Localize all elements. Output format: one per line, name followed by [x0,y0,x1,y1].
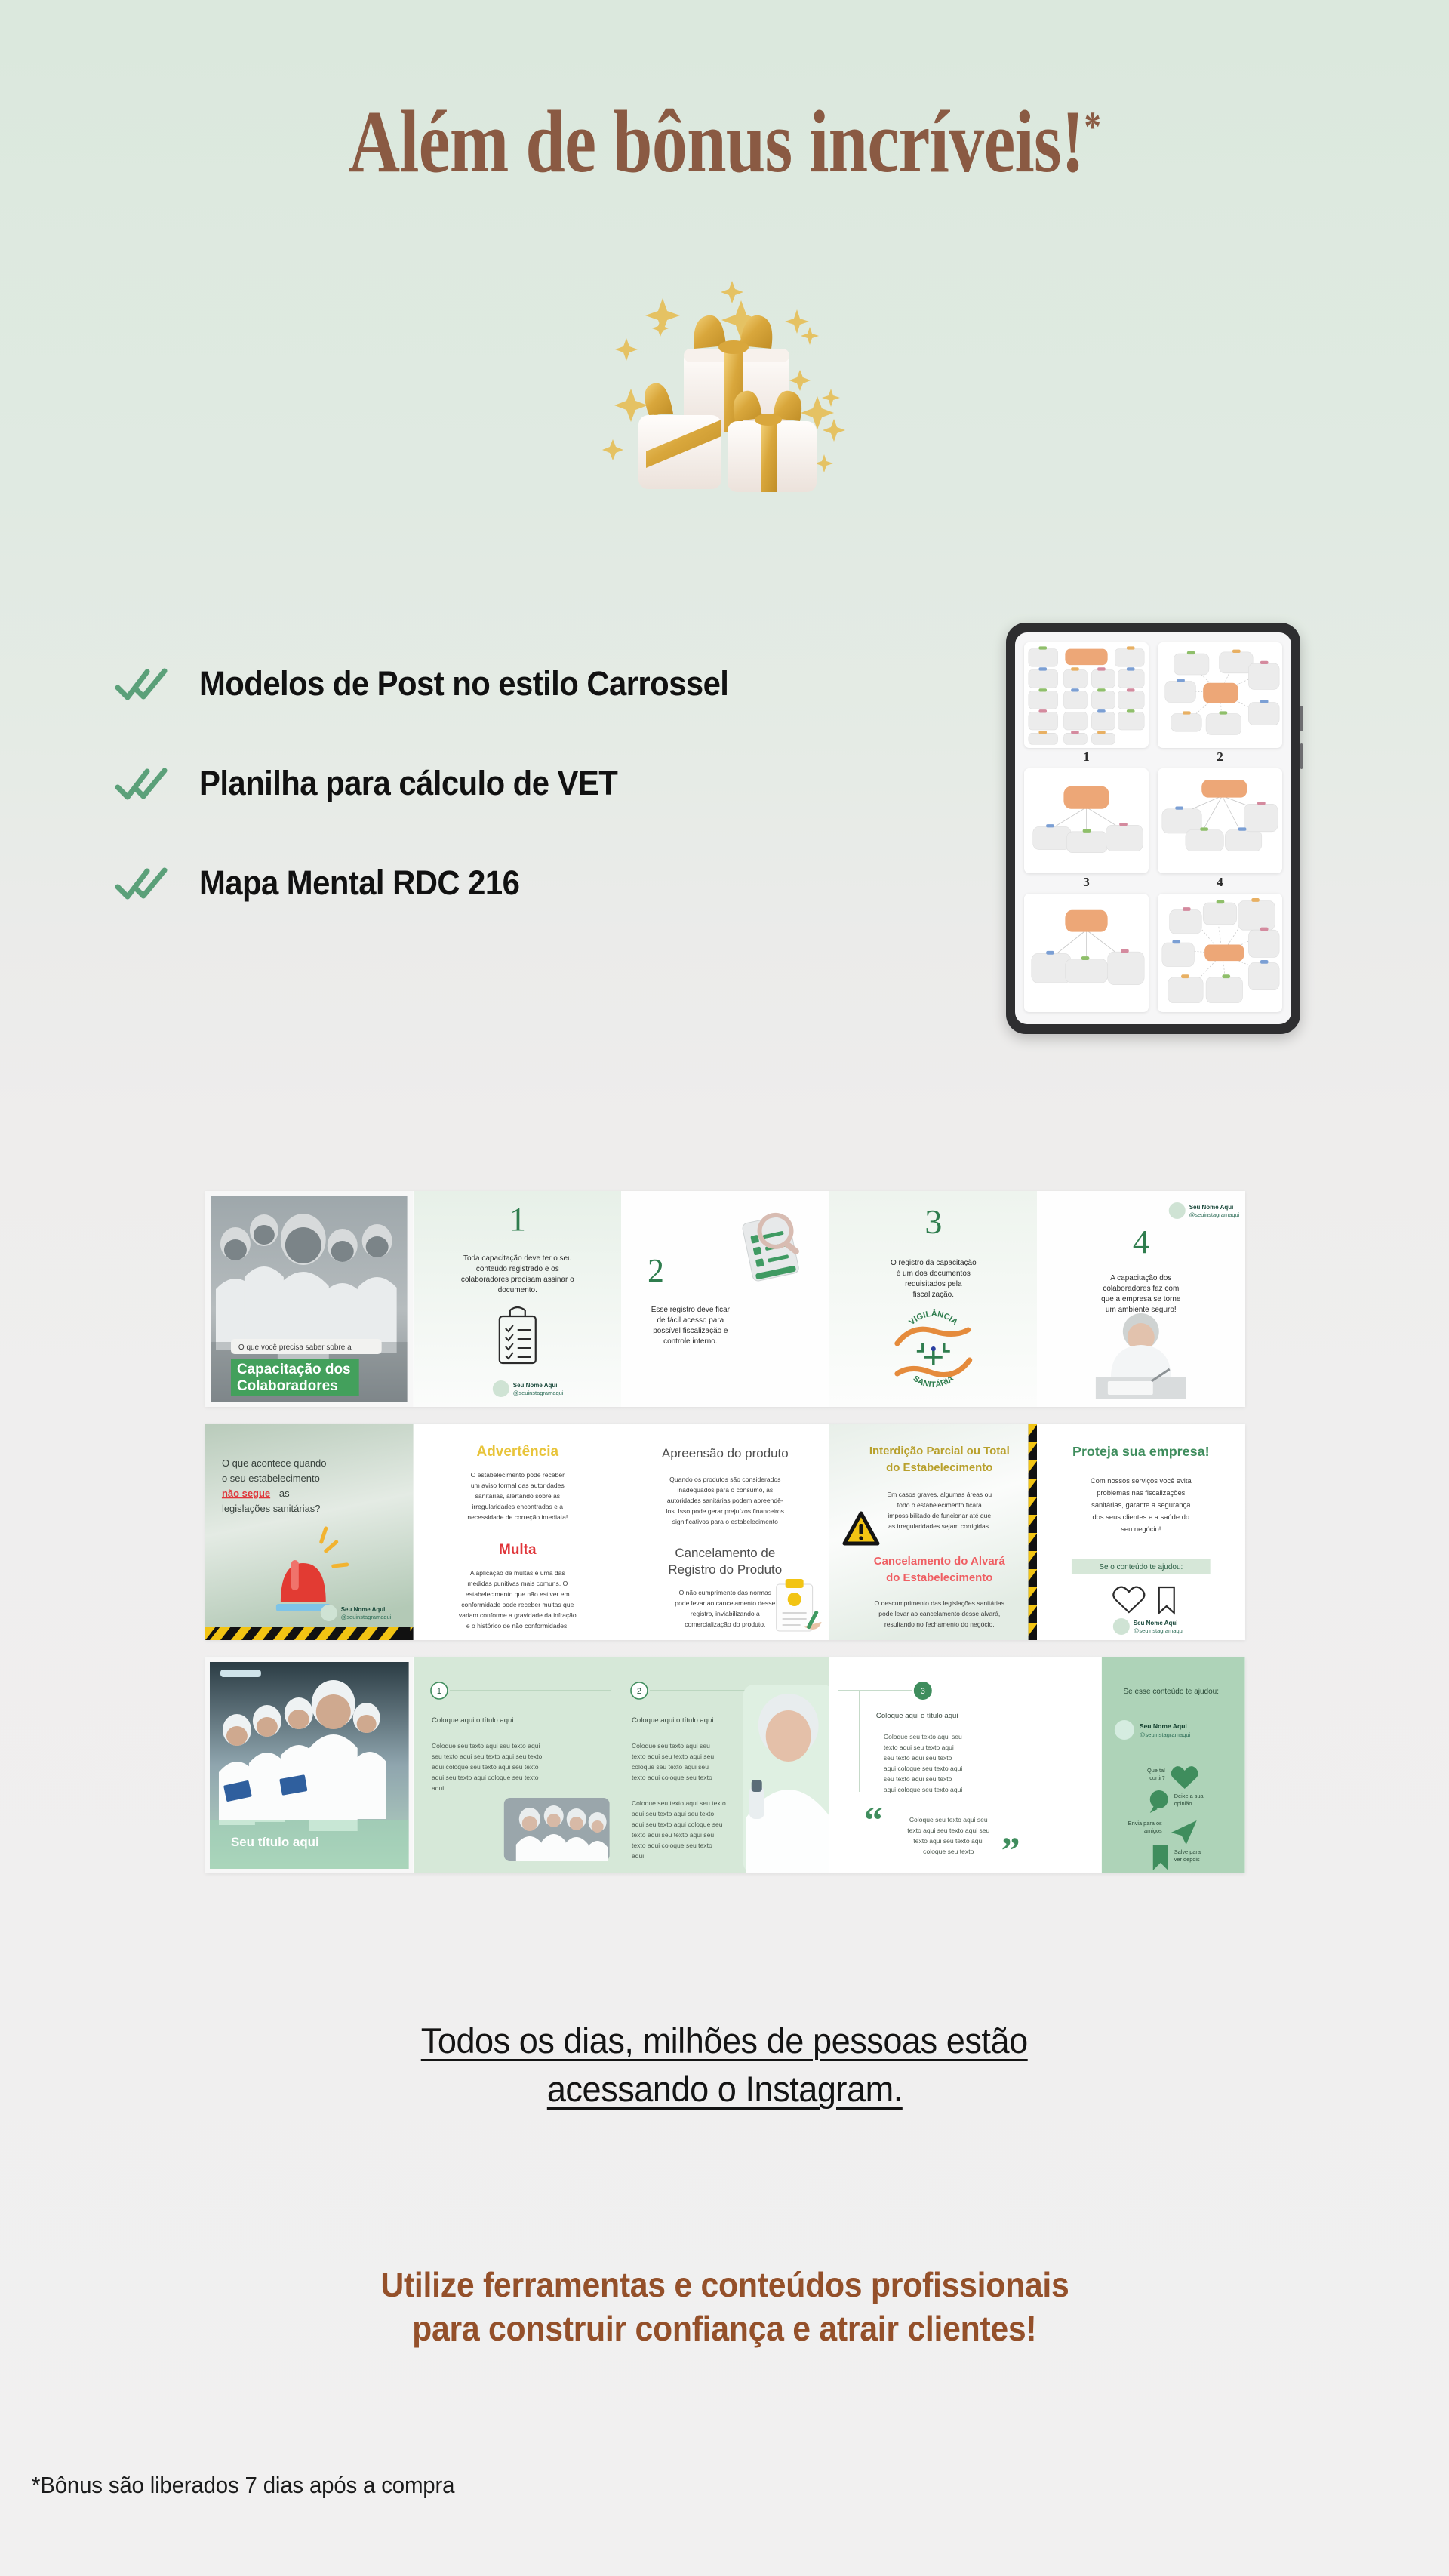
cta-line-2: para construir confiança e atrair client… [412,2307,1036,2350]
svg-text:Coloque seu texto aqui seu: Coloque seu texto aqui seu [632,1742,710,1750]
carousel-slide[interactable]: Se esse conteúdo te ajudou: Seu Nome Aqu… [1037,1657,1245,1873]
double-check-icon [113,863,169,903]
svg-text:aqui coloque seu texto aqui: aqui coloque seu texto aqui [884,1786,962,1793]
statement-line-1: Todos os dias, milhões de pessoas estão [421,2017,1028,2065]
svg-text:seu texto aqui seu texto aqui: seu texto aqui seu texto aqui seu texto [432,1753,543,1760]
list-item-label: Modelos de Post no estilo Carrossel [199,664,728,703]
svg-text:do Estabelecimento: do Estabelecimento [886,1571,992,1584]
svg-text:autoridades sanitárias podem a: autoridades sanitárias podem apreendê- [667,1497,783,1504]
svg-text:coloque seu texto aqui seu: coloque seu texto aqui seu [632,1763,709,1771]
svg-text:Deixe a sua: Deixe a sua [1174,1793,1204,1799]
svg-text:4: 4 [1133,1223,1149,1260]
svg-text:as irregularidades sejam corri: as irregularidades sejam corrigidas. [888,1522,990,1530]
list-item-label: Planilha para cálculo de VET [199,764,617,803]
carousel-slide[interactable]: Seu Nome Aqui @seuinstagramaqui 4 A capa… [1037,1191,1245,1407]
svg-text:variam conforme a gravidade d: variam conforme a gravidade da infração [458,1611,576,1619]
svg-text:seu texto aqui seu texto: seu texto aqui seu texto [884,1754,952,1762]
carousel-slide[interactable]: 2 Coloque aqui o título aqui Coloque seu… [621,1657,829,1873]
tablet-screen: 1 [1015,632,1291,1024]
svg-text:2: 2 [637,1687,641,1696]
svg-text:O descumprimento das legislaçõ: O descumprimento das legislações sanitár… [874,1599,1004,1607]
double-check-icon [113,664,169,703]
svg-text:de fácil acesso para: de fácil acesso para [657,1316,724,1325]
mindmap-number: 2 [1217,750,1223,763]
svg-text:Se esse conteúdo te ajudou:: Se esse conteúdo te ajudou: [1124,1688,1219,1696]
svg-text:Colaboradores: Colaboradores [237,1378,338,1394]
svg-text:1: 1 [509,1201,525,1238]
svg-text:Interdição Parcial ou Total: Interdição Parcial ou Total [869,1445,1010,1457]
svg-text:comercialização do produto.: comercialização do produto. [685,1620,765,1628]
mindmap-cell: 4 [1158,768,1282,889]
svg-text:sanitárias, garante a seguranç: sanitárias, garante a segurança [1092,1500,1192,1509]
list-item: Mapa Mental RDC 216 [113,863,958,903]
svg-text:texto aqui seu texto aqui: texto aqui seu texto aqui [913,1837,983,1845]
carousel-slide[interactable]: 1 Toda capacitação deve ter o seu conteú… [414,1191,622,1407]
carousel-slide[interactable]: Apreensão do produto Quando os produtos … [621,1424,829,1640]
svg-text:A capacitação dos: A capacitação dos [1111,1274,1172,1282]
carousel-slide[interactable]: O que você precisa saber sobre a Capacit… [205,1191,414,1407]
page-title-text: Além de bônus incríveis! [349,92,1084,191]
svg-text:”: ” [1001,1829,1020,1871]
cta-text: Utilize ferramentas e conteúdos profissi… [0,2263,1449,2351]
svg-text:seu texto aqui seu texto: seu texto aqui seu texto [884,1775,952,1783]
double-check-icon [113,764,169,803]
svg-text:Coloque aqui o título aqui: Coloque aqui o título aqui [632,1716,714,1725]
svg-text:Coloque seu texto aqui seu tex: Coloque seu texto aqui seu texto [632,1799,726,1807]
mindmap-thumbnail[interactable] [1024,768,1149,874]
svg-text:um aviso formal das autoridade: um aviso formal das autoridades [470,1482,564,1489]
svg-text:opinião: opinião [1174,1800,1192,1807]
svg-text:estabelecimento que não estive: estabelecimento que não estiver em [466,1590,570,1598]
svg-text:Multa: Multa [499,1542,537,1558]
svg-text:aqui coloque seu texto aqui: aqui coloque seu texto aqui [884,1765,962,1772]
carousel-slide[interactable]: Proteja sua empresa! Com nossos serviços… [1037,1424,1245,1640]
svg-text:conteúdo registrado e os: conteúdo registrado e os [475,1265,558,1273]
svg-text:O não cumprimento das normas: O não cumprimento das normas [679,1589,771,1596]
svg-text:Esse registro deve ficar: Esse registro deve ficar [651,1306,731,1314]
statement-text: Todos os dias, milhões de pessoas estão … [0,2017,1449,2113]
svg-text:Cancelamento do Alvará: Cancelamento do Alvará [874,1555,1006,1568]
mindmap-cell: 2 [1158,642,1282,763]
carousel-previews: O que você precisa saber sobre a Capacit… [205,1191,1245,1873]
svg-text:não segue: não segue [222,1488,270,1499]
carousel-slide[interactable]: Advertência O estabelecimento pode receb… [414,1424,622,1640]
svg-text:as: as [279,1488,290,1499]
svg-text:o seu estabelecimento: o seu estabelecimento [222,1473,320,1484]
list-item: Planilha para cálculo de VET [113,764,958,803]
svg-text:texto aqui seu texto aqui: texto aqui seu texto aqui [884,1743,954,1751]
svg-text:controle interno.: controle interno. [663,1337,718,1346]
svg-text:colaboradores faz com: colaboradores faz com [1103,1285,1180,1293]
tablet-device: 1 [1006,623,1300,1034]
svg-text:aqui: aqui [432,1784,444,1792]
svg-text:pode levar ao cancelamento des: pode levar ao cancelamento desse [675,1599,776,1607]
mindmap-thumbnail[interactable] [1158,642,1282,748]
mindmap-thumbnail[interactable] [1158,768,1282,874]
svg-text:@seuinstagramaqui: @seuinstagramaqui [1189,1211,1240,1218]
svg-text:Registro do Produto: Registro do Produto [669,1562,783,1577]
svg-text:Quando os produtos são conside: Quando os produtos são considerados [669,1476,780,1483]
svg-text:Coloque seu texto aqui seu: Coloque seu texto aqui seu [884,1733,962,1740]
svg-text:fiscalização.: fiscalização. [912,1291,953,1299]
svg-text:que a empresa se torne: que a empresa se torne [1101,1295,1181,1303]
svg-text:Seu Nome Aqui: Seu Nome Aqui [341,1606,386,1613]
svg-text:Coloque aqui o título aqui: Coloque aqui o título aqui [432,1716,514,1725]
svg-text:ver depois: ver depois [1174,1856,1200,1863]
svg-text:Coloque seu texto aqui seu: Coloque seu texto aqui seu [909,1816,988,1824]
carousel-capacitacao: O que você precisa saber sobre a Capacit… [205,1191,1245,1407]
carousel-slide[interactable]: 3 O registro da capacitação é um dos doc… [829,1191,1038,1407]
svg-text:3: 3 [924,1202,942,1241]
svg-text:O registro da capacitação: O registro da capacitação [891,1259,977,1267]
mindmap-cell: 1 [1024,642,1149,763]
svg-text:texto aqui seu texto aqui seu: texto aqui seu texto aqui seu [907,1827,989,1834]
svg-text:Coloque aqui o título aqui: Coloque aqui o título aqui [876,1712,958,1720]
svg-text:@seuinstagramaqui: @seuinstagramaqui [1134,1627,1184,1634]
svg-text:registro, inviabilizando a: registro, inviabilizando a [691,1610,760,1617]
svg-text:O que você precisa saber sobre: O que você precisa saber sobre a [238,1343,352,1352]
svg-text:O estabelecimento pode recebe: O estabelecimento pode receber [470,1471,565,1479]
svg-text:Com nossos serviços você evita: Com nossos serviços você evita [1091,1476,1192,1485]
svg-text:Cancelamento de: Cancelamento de [675,1546,776,1560]
svg-text:possível fiscalização e: possível fiscalização e [653,1327,728,1335]
svg-text:colaboradores precisam assinar: colaboradores precisam assinar o [461,1276,574,1284]
svg-text:O que acontece quando: O que acontece quando [222,1457,327,1469]
carousel-slide[interactable]: 1 Coloque aqui o título aqui Coloque seu… [414,1657,622,1873]
svg-text:@seuinstagramaqui: @seuinstagramaqui [1140,1731,1191,1738]
svg-text:impossibilitado de funcionar a: impossibilitado de funcionar até que [888,1512,991,1519]
svg-text:A aplicação de multas é uma da: A aplicação de multas é uma das [469,1569,565,1577]
svg-text:Em casos graves, algumas áreas: Em casos graves, algumas áreas ou [887,1491,992,1498]
svg-text:Advertência: Advertência [476,1444,558,1460]
svg-text:“: “ [864,1799,883,1841]
svg-text:Seu Nome Aqui: Seu Nome Aqui [1140,1722,1187,1730]
list-item-label: Mapa Mental RDC 216 [199,863,519,903]
svg-text:Que tal: Que tal [1147,1767,1165,1774]
svg-text:texto aqui seu texto aqui seu: texto aqui seu texto aqui seu [632,1753,714,1760]
mindmap-thumbnail[interactable] [1024,894,1149,1012]
bonus-list: Modelos de Post no estilo Carrossel Plan… [113,664,958,903]
svg-text:amigos: amigos [1144,1827,1162,1834]
svg-text:inadequados para o consumo, as: inadequados para o consumo, as [678,1486,774,1494]
svg-text:Se o conteúdo te ajudou:: Se o conteúdo te ajudou: [1100,1563,1183,1571]
list-item: Modelos de Post no estilo Carrossel [113,664,958,703]
svg-text:conformidade pode receber mult: conformidade pode receber multas que [461,1601,574,1608]
svg-text:Envia para os: Envia para os [1128,1820,1162,1827]
cta-line-1: Utilize ferramentas e conteúdos profissi… [380,2263,1069,2307]
svg-text:Salve para: Salve para [1174,1848,1201,1855]
mindmap-cell [1024,894,1149,1014]
svg-text:Capacitação dos: Capacitação dos [237,1362,351,1377]
svg-text:problemas nas fiscalizações: problemas nas fiscalizações [1097,1488,1186,1497]
svg-text:texto aqui coloque seu texto: texto aqui coloque seu texto [632,1774,712,1781]
svg-text:Seu Nome Aqui: Seu Nome Aqui [1134,1620,1178,1627]
carousel-slide[interactable]: O que acontece quando o seu estabelecime… [205,1424,414,1640]
svg-text:dos seus clientes e a saúde do: dos seus clientes e a saúde do [1093,1513,1190,1521]
mindmap-number: 1 [1083,750,1090,763]
svg-text:irregularidades encontradas e: irregularidades encontradas e a [472,1503,563,1510]
svg-text:coloque seu texto: coloque seu texto [923,1848,974,1855]
svg-text:@seuinstagramaqui: @seuinstagramaqui [341,1614,392,1620]
footnote: *Bônus são liberados 7 dias após a compr… [32,2472,454,2499]
mindmap-number: 3 [1083,876,1090,888]
svg-text:Apreensão do produto: Apreensão do produto [662,1446,789,1460]
svg-text:Proteja sua empresa!: Proteja sua empresa! [1072,1444,1210,1459]
svg-text:seu negócio!: seu negócio! [1121,1525,1161,1533]
svg-text:3: 3 [921,1687,925,1696]
carousel-slide[interactable]: Interdição Parcial ou Total do Estabelec… [829,1424,1038,1640]
carousel-slide[interactable]: 3 Coloque aqui o título aqui Coloque seu… [829,1657,1038,1873]
svg-text:um ambiente seguro!: um ambiente seguro! [1106,1306,1177,1314]
svg-text:aqui seu texto aqui coloque se: aqui seu texto aqui coloque seu [632,1820,723,1828]
svg-text:aqui coloque seu texto aqui se: aqui coloque seu texto aqui seu texto [432,1763,539,1771]
svg-text:1: 1 [436,1687,441,1696]
svg-text:texto aqui coloque seu texto: texto aqui coloque seu texto [632,1842,712,1849]
svg-text:resultando no fechamento do ne: resultando no fechamento do negócio. [884,1620,995,1628]
svg-text:medidas punitivas mais comuns.: medidas punitivas mais comuns. O [467,1580,568,1587]
svg-text:Seu título aqui: Seu título aqui [231,1835,319,1849]
page-title: Além de bônus incríveis!* [145,91,1304,193]
svg-text:pode levar ao cancelamento des: pode levar ao cancelamento desse alvará, [878,1610,1000,1617]
carousel-slide[interactable]: 2 Esse registro deve ficar de fácil aces… [621,1191,829,1407]
svg-text:legislações sanitárias?: legislações sanitárias? [222,1503,321,1514]
mindmap-number: 4 [1217,876,1223,888]
mindmap-cell [1158,894,1282,1014]
svg-text:Coloque seu texto aqui seu tex: Coloque seu texto aqui seu texto aqui [432,1742,540,1750]
svg-text:todo o estabelecimento ficará: todo o estabelecimento ficará [897,1501,982,1509]
svg-text:requisitados pela: requisitados pela [905,1280,962,1288]
svg-text:@seuinstagramaqui: @seuinstagramaqui [512,1390,563,1396]
carousel-slide[interactable]: Seu título aqui [205,1657,414,1873]
page-title-asterisk: * [1084,104,1101,151]
svg-text:aqui seu texto aqui seu texto: aqui seu texto aqui seu texto [632,1810,714,1817]
svg-text:Toda capacitação deve ter o se: Toda capacitação deve ter o seu [463,1254,572,1263]
svg-text:Seu Nome Aqui: Seu Nome Aqui [512,1382,557,1389]
svg-text:aqui: aqui [632,1852,644,1860]
mindmap-thumbnail[interactable] [1158,894,1282,1012]
svg-text:Seu Nome Aqui: Seu Nome Aqui [1189,1204,1234,1211]
gift-boxes-sparkles-icon [574,264,875,521]
svg-text:texto aqui seu texto aqui seu: texto aqui seu texto aqui seu [632,1831,714,1839]
svg-text:aqui seu texto aqui coloque se: aqui seu texto aqui coloque seu texto [432,1774,539,1781]
svg-text:necessidade de correção imedia: necessidade de correção imediata! [467,1513,568,1521]
svg-text:significativos para o estabele: significativos para o estabelecimento [672,1518,778,1525]
svg-text:é um dos documentos: é um dos documentos [896,1270,970,1278]
svg-text:los. Isso pode gerar prejuízos: los. Isso pode gerar prejuízos financeir… [666,1507,784,1515]
svg-text:sanitárias, alertando sobre as: sanitárias, alertando sobre as [475,1492,559,1500]
mindmap-thumbnail[interactable] [1024,642,1149,748]
carousel-legislacao: O que acontece quando o seu estabelecime… [205,1424,1245,1640]
svg-text:do Estabelecimento: do Estabelecimento [886,1461,992,1474]
svg-text:documento.: documento. [497,1286,537,1294]
svg-text:curtir?: curtir? [1150,1774,1165,1781]
svg-text:2: 2 [648,1252,664,1289]
mindmap-cell: 3 [1024,768,1149,889]
svg-text:e o histórico de não conformid: e o histórico de não conformidades. [466,1622,568,1630]
carousel-template: Seu título aqui 1 Coloque aqui o título … [205,1657,1245,1873]
statement-line-2: acessando o Instagram. [547,2065,903,2113]
